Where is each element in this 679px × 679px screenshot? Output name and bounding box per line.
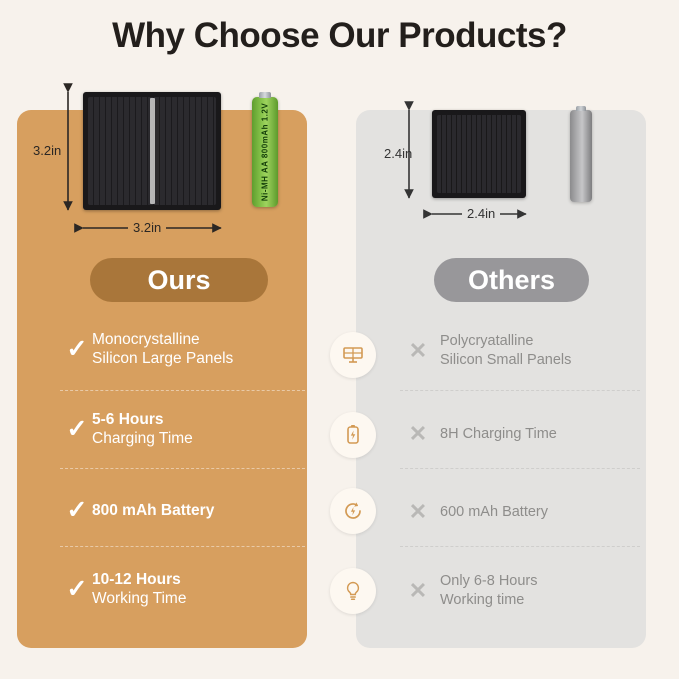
others-height-label: 2.4in: [384, 146, 412, 161]
others-feature-2-line1: 8H Charging Time: [440, 425, 557, 444]
others-divider-2: [400, 468, 640, 469]
ours-label-text: Ours: [147, 265, 210, 296]
page-title: Why Choose Our Products?: [0, 16, 679, 56]
others-battery-image: [570, 110, 592, 202]
others-feature-3-text: 600 mAh Battery: [440, 503, 548, 522]
others-divider-1: [400, 390, 640, 391]
ours-divider-1: [60, 390, 305, 391]
ours-feature-2-line2: Charging Time: [92, 429, 193, 448]
ours-divider-3: [60, 546, 305, 547]
ours-feature-3-text: 800 mAh Battery: [92, 501, 214, 520]
ours-feature-3: ✓ 800 mAh Battery: [62, 498, 302, 523]
others-label-text: Others: [468, 265, 555, 296]
others-feature-1: ✕ Polycryatalline Silicon Small Panels: [404, 332, 639, 370]
charge-clock-icon-circle: [330, 488, 376, 534]
ours-feature-2-text: 5-6 Hours Charging Time: [92, 410, 193, 449]
others-feature-1-text: Polycryatalline Silicon Small Panels: [440, 332, 571, 370]
lightbulb-icon: [341, 579, 365, 603]
others-label-pill: Others: [434, 258, 589, 302]
ours-feature-4-text: 10-12 Hours Working Time: [92, 570, 186, 609]
ours-feature-1-line2: Silicon Large Panels: [92, 349, 233, 368]
ours-feature-4-line2: Working Time: [92, 589, 186, 608]
ours-feature-1-line1: Monocrystalline: [92, 330, 233, 349]
others-feature-2-text: 8H Charging Time: [440, 425, 557, 444]
ours-battery-text: Ni-MH AA 800mAh 1.2V: [261, 103, 270, 201]
ours-feature-3-line1: 800 mAh Battery: [92, 501, 214, 520]
check-icon: ✓: [62, 417, 92, 442]
check-icon: ✓: [62, 337, 92, 362]
ours-feature-1-text: Monocrystalline Silicon Large Panels: [92, 330, 233, 369]
solar-panel-icon: [341, 343, 365, 367]
cross-icon: ✕: [404, 501, 432, 523]
cross-icon: ✕: [404, 423, 432, 445]
others-feature-2: ✕ 8H Charging Time: [404, 423, 639, 445]
ours-battery-image: Ni-MH AA 800mAh 1.2V: [252, 97, 278, 207]
others-feature-1-line2: Silicon Small Panels: [440, 351, 571, 370]
others-divider-3: [400, 546, 640, 547]
battery-bolt-icon-circle: [330, 412, 376, 458]
cross-icon: ✕: [404, 340, 432, 362]
others-solar-panel-image: [432, 110, 526, 198]
lightbulb-icon-circle: [330, 568, 376, 614]
ours-solar-panel-image: [83, 92, 221, 210]
others-feature-4-line2: Working time: [440, 591, 538, 610]
ours-width-label: 3.2in: [128, 220, 166, 235]
others-feature-4-text: Only 6-8 Hours Working time: [440, 572, 538, 610]
ours-feature-4-line1: 10-12 Hours: [92, 570, 186, 589]
cross-icon: ✕: [404, 580, 432, 602]
ours-height-label: 3.2in: [33, 143, 61, 158]
others-width-label: 2.4in: [462, 206, 500, 221]
ours-feature-2-line1: 5-6 Hours: [92, 410, 193, 429]
others-feature-1-line1: Polycryatalline: [440, 332, 571, 351]
charge-clock-icon: [341, 499, 365, 523]
battery-bolt-icon: [341, 423, 365, 447]
ours-feature-1: ✓ Monocrystalline Silicon Large Panels: [62, 330, 302, 369]
ours-feature-4: ✓ 10-12 Hours Working Time: [62, 570, 302, 609]
ours-label-pill: Ours: [90, 258, 268, 302]
others-feature-4: ✕ Only 6-8 Hours Working time: [404, 572, 639, 610]
ours-feature-2: ✓ 5-6 Hours Charging Time: [62, 410, 302, 449]
others-feature-3: ✕ 600 mAh Battery: [404, 501, 639, 523]
ours-divider-2: [60, 468, 305, 469]
check-icon: ✓: [62, 498, 92, 523]
others-feature-4-line1: Only 6-8 Hours: [440, 572, 538, 591]
solar-panel-icon-circle: [330, 332, 376, 378]
check-icon: ✓: [62, 577, 92, 602]
others-feature-3-line1: 600 mAh Battery: [440, 503, 548, 522]
